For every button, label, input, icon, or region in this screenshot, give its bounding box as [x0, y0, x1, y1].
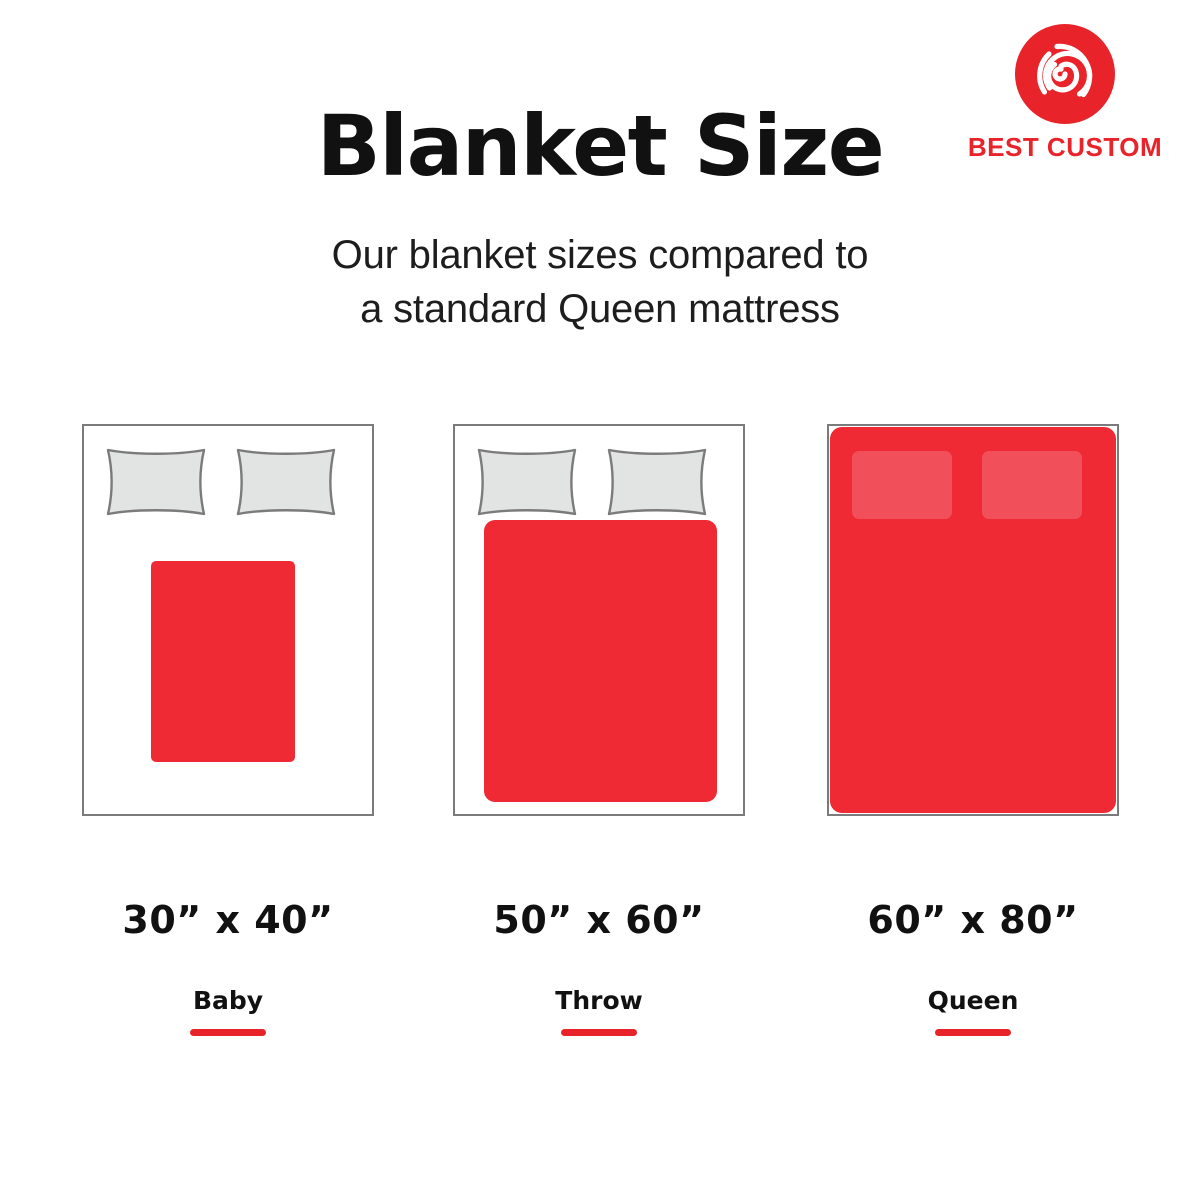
- blanket-shape-queen: [830, 427, 1116, 813]
- subtitle-line-2: a standard Queen mattress: [0, 282, 1200, 336]
- pillow-under-blanket-icon: [852, 451, 952, 519]
- size-label-queen: 60” x 80” Queen: [827, 898, 1119, 1036]
- bed-comparison-row: [0, 424, 1200, 816]
- size-label-baby: 30” x 40” Baby: [82, 898, 374, 1036]
- pillow-under-blanket-icon: [982, 451, 1082, 519]
- blanket-shape-throw: [484, 520, 717, 802]
- bed-diagram-baby: [82, 424, 374, 816]
- size-name: Queen: [827, 986, 1119, 1015]
- bed-diagram-queen: [827, 424, 1119, 816]
- size-dimensions: 50” x 60”: [453, 898, 745, 942]
- size-dimensions: 60” x 80”: [827, 898, 1119, 942]
- accent-underline: [561, 1029, 637, 1036]
- page-subtitle: Our blanket sizes compared to a standard…: [0, 228, 1200, 337]
- size-name: Baby: [82, 986, 374, 1015]
- size-name: Throw: [453, 986, 745, 1015]
- page-title: Blanket Size: [0, 104, 1200, 190]
- accent-underline: [935, 1029, 1011, 1036]
- blanket-shape-baby: [151, 561, 295, 762]
- subtitle-line-1: Our blanket sizes compared to: [0, 228, 1200, 282]
- bed-diagram-throw: [453, 424, 745, 816]
- pillow-icon: [605, 446, 709, 518]
- size-dimensions: 30” x 40”: [82, 898, 374, 942]
- pillow-icon: [104, 446, 208, 518]
- size-label-throw: 50” x 60” Throw: [453, 898, 745, 1036]
- accent-underline: [190, 1029, 266, 1036]
- pillow-icon: [234, 446, 338, 518]
- pillow-icon: [475, 446, 579, 518]
